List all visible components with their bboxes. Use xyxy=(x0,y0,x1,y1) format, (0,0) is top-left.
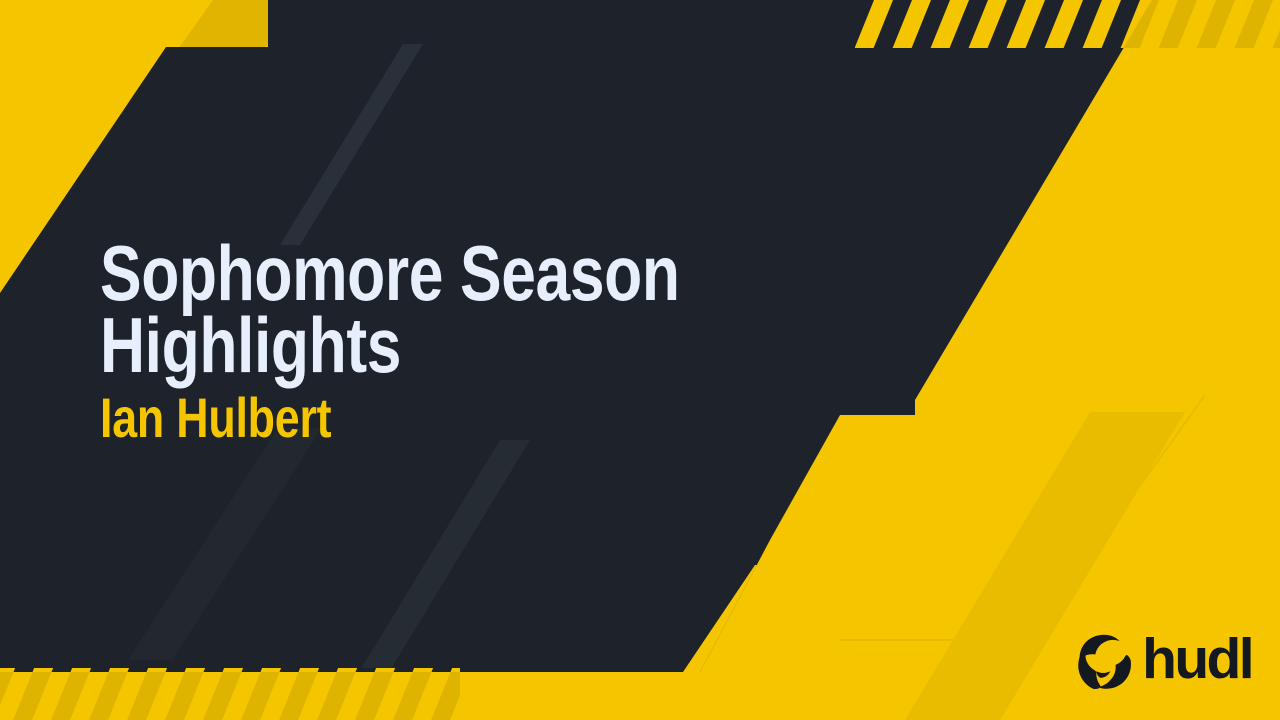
hudl-wordmark: hudl xyxy=(1142,631,1252,688)
hudl-logo: hudl xyxy=(1075,633,1252,690)
slide-canvas: Sophomore Season Highlights Ian Hulbert … xyxy=(0,0,1280,720)
hudl-triskelion-icon xyxy=(1075,634,1133,690)
background-graphics xyxy=(0,0,1280,720)
